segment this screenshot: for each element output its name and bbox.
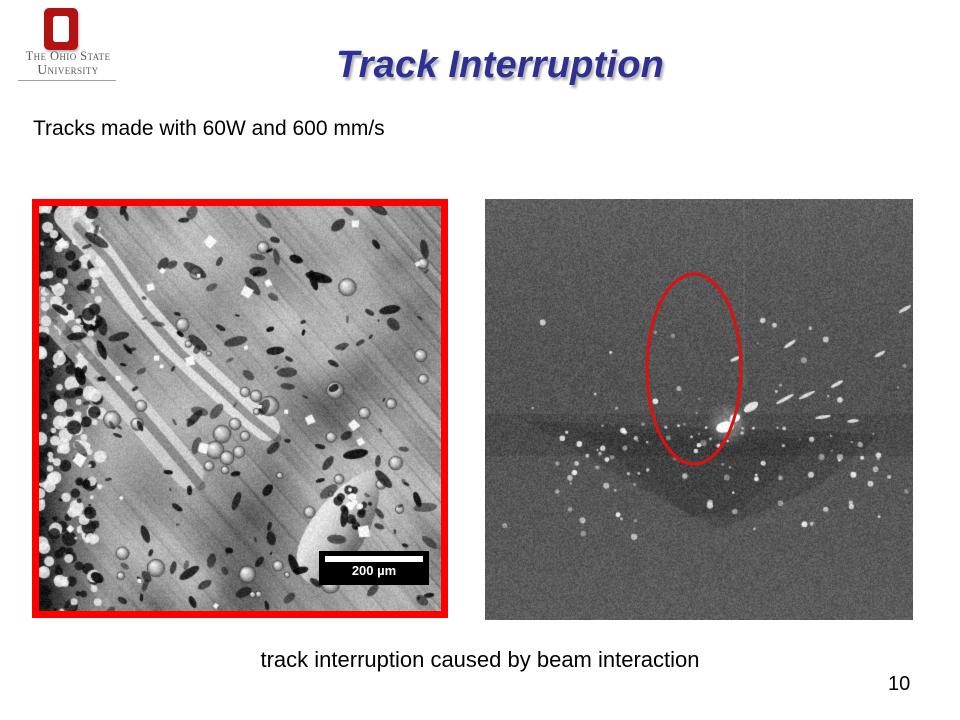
highspeed-camera-figure	[485, 199, 913, 620]
caption-text: track interruption caused by beam intera…	[0, 647, 960, 673]
wordmark-line-2: University	[4, 63, 132, 77]
highspeed-camera-image	[485, 199, 913, 620]
page-title: Track Interruption	[180, 44, 820, 87]
wordmark-underline	[18, 80, 116, 81]
scale-bar: 200 µm	[319, 551, 429, 585]
block-o-inner	[53, 16, 69, 42]
slide-number: 10	[888, 673, 910, 696]
sem-micrograph-figure: 200 µm	[32, 199, 448, 618]
subtitle-text: Tracks made with 60W and 600 mm/s	[33, 117, 385, 141]
scale-bar-line	[325, 556, 423, 562]
osu-logo: The Ohio State University	[0, 4, 140, 84]
osu-wordmark: The Ohio State University	[4, 50, 132, 77]
scale-bar-label: 200 µm	[325, 563, 423, 578]
block-o-icon	[44, 8, 78, 50]
